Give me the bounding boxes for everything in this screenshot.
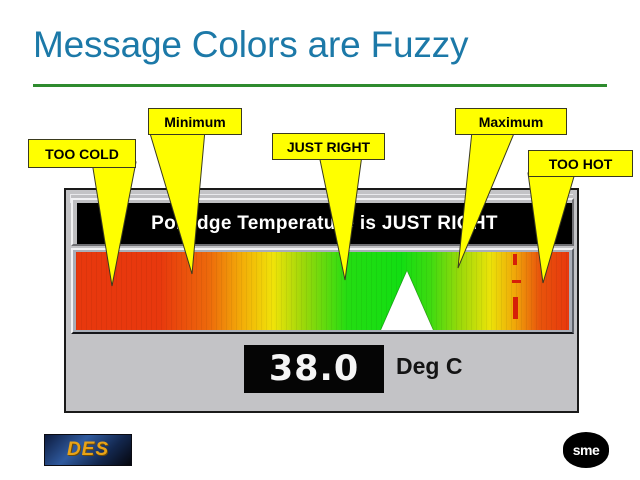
callout-too-cold: TOO COLD <box>28 139 136 168</box>
callout-maximum: Maximum <box>455 108 567 135</box>
callout-just-right: JUST RIGHT <box>272 133 385 160</box>
callout-tail-too-hot <box>0 0 640 480</box>
callout-too-hot: TOO HOT <box>528 150 633 177</box>
callout-minimum: Minimum <box>148 108 242 135</box>
slide-canvas: Message Colors are Fuzzy TOO COLD Minimu… <box>0 0 640 480</box>
